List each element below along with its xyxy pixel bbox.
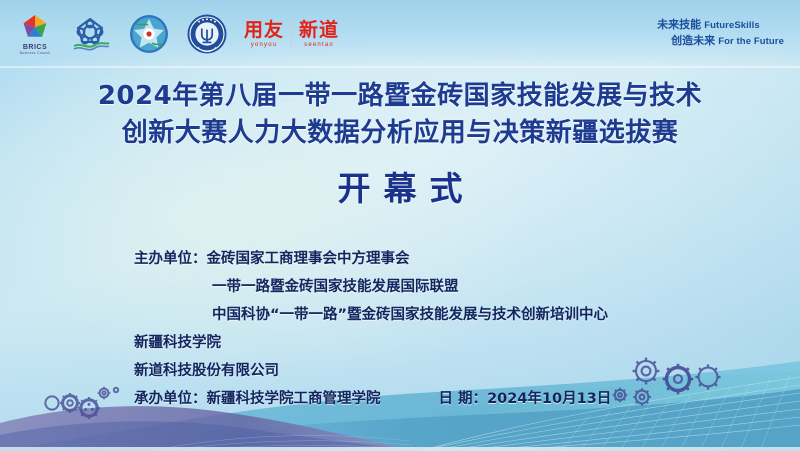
globe-star-emblem-logo — [128, 11, 170, 57]
event-name-heading: 开幕式 — [0, 162, 800, 210]
slogan-line-2-en: For the Future — [718, 36, 784, 47]
logo-divider — [291, 21, 292, 47]
undertaker-label: 承办单位： — [134, 391, 207, 407]
network-pentagon-icon — [68, 12, 112, 56]
yonyou-logo: 用友 yonyou — [244, 21, 284, 48]
slide-title-block: 2024年第八届一带一路暨金砖国家技能发展与技术 创新大赛人力大数据分析应用与决… — [0, 78, 800, 210]
host-item-1: 金砖国家工商理事会中方理事会 — [207, 251, 410, 267]
slogan-line-2-cn: 创造未来 — [671, 35, 715, 47]
slogan-line-1: 未来技能 FutureSkills — [657, 18, 784, 34]
skills-network-emblem-logo — [68, 11, 112, 57]
university-seal-logo — [186, 11, 228, 57]
slogan-line-2: 创造未来 For the Future — [657, 34, 784, 50]
header-divider-sheen — [0, 66, 800, 68]
organizer-block: 主办单位：金砖国家工商理事会中方理事会 一带一路暨金砖国家技能发展国际联盟 中国… — [0, 246, 800, 414]
undertaker-value: 新疆科技学院工商管理学院 — [207, 391, 381, 407]
brics-subtitle: Business Council — [20, 52, 51, 56]
slogan-line-1-en: FutureSkills — [704, 20, 760, 31]
presentation-slide: BRICS Business Council — [0, 0, 800, 451]
host-row-3: 中国科协“一带一路”暨金砖国家技能发展与技术创新培训中心 — [134, 302, 674, 330]
partner-logo-row: BRICS Business Council — [18, 8, 339, 60]
seentao-wordmark-cn: 新道 — [299, 21, 339, 40]
brics-business-council-logo: BRICS Business Council — [18, 11, 52, 57]
host-row-1: 主办单位：金砖国家工商理事会中方理事会 — [134, 246, 674, 274]
host-row-5: 新道科技股份有限公司 — [134, 358, 674, 386]
host-row-4: 新疆科技学院 — [134, 330, 674, 358]
date-text: 日 期：2024年10月13日 — [439, 386, 612, 414]
yonyou-wordmark-en: yonyou — [251, 42, 278, 48]
undertaker-text: 承办单位：新疆科技学院工商管理学院 — [134, 386, 381, 414]
host-label: 主办单位： — [134, 251, 207, 267]
yonyou-wordmark-cn: 用友 — [244, 21, 284, 40]
seentao-wordmark-en: seentao — [304, 42, 334, 48]
host-row-2: 一带一路暨金砖国家技能发展国际联盟 — [134, 274, 674, 302]
footer-hairline — [0, 447, 800, 451]
title-line-1: 2024年第八届一带一路暨金砖国家技能发展与技术 — [0, 78, 800, 115]
university-seal-icon — [186, 13, 228, 55]
slogan-line-1-cn: 未来技能 — [657, 19, 701, 31]
date-value: 2024年10月13日 — [487, 391, 611, 407]
title-line-2: 创新大赛人力大数据分析应用与决策新疆选拔赛 — [0, 115, 800, 152]
brics-wordmark: BRICS — [23, 44, 47, 51]
seentao-logo: 新道 seentao — [299, 21, 339, 48]
undertaker-date-row: 承办单位：新疆科技学院工商管理学院 日 期：2024年10月13日 — [134, 386, 674, 414]
globe-star-icon — [128, 13, 170, 55]
date-label: 日 期： — [439, 391, 488, 407]
futureskills-slogan: 未来技能 FutureSkills 创造未来 For the Future — [657, 18, 784, 50]
brics-pentagon-icon — [18, 13, 52, 43]
yonyou-seentao-logo-group: 用友 yonyou 新道 seentao — [244, 12, 339, 56]
